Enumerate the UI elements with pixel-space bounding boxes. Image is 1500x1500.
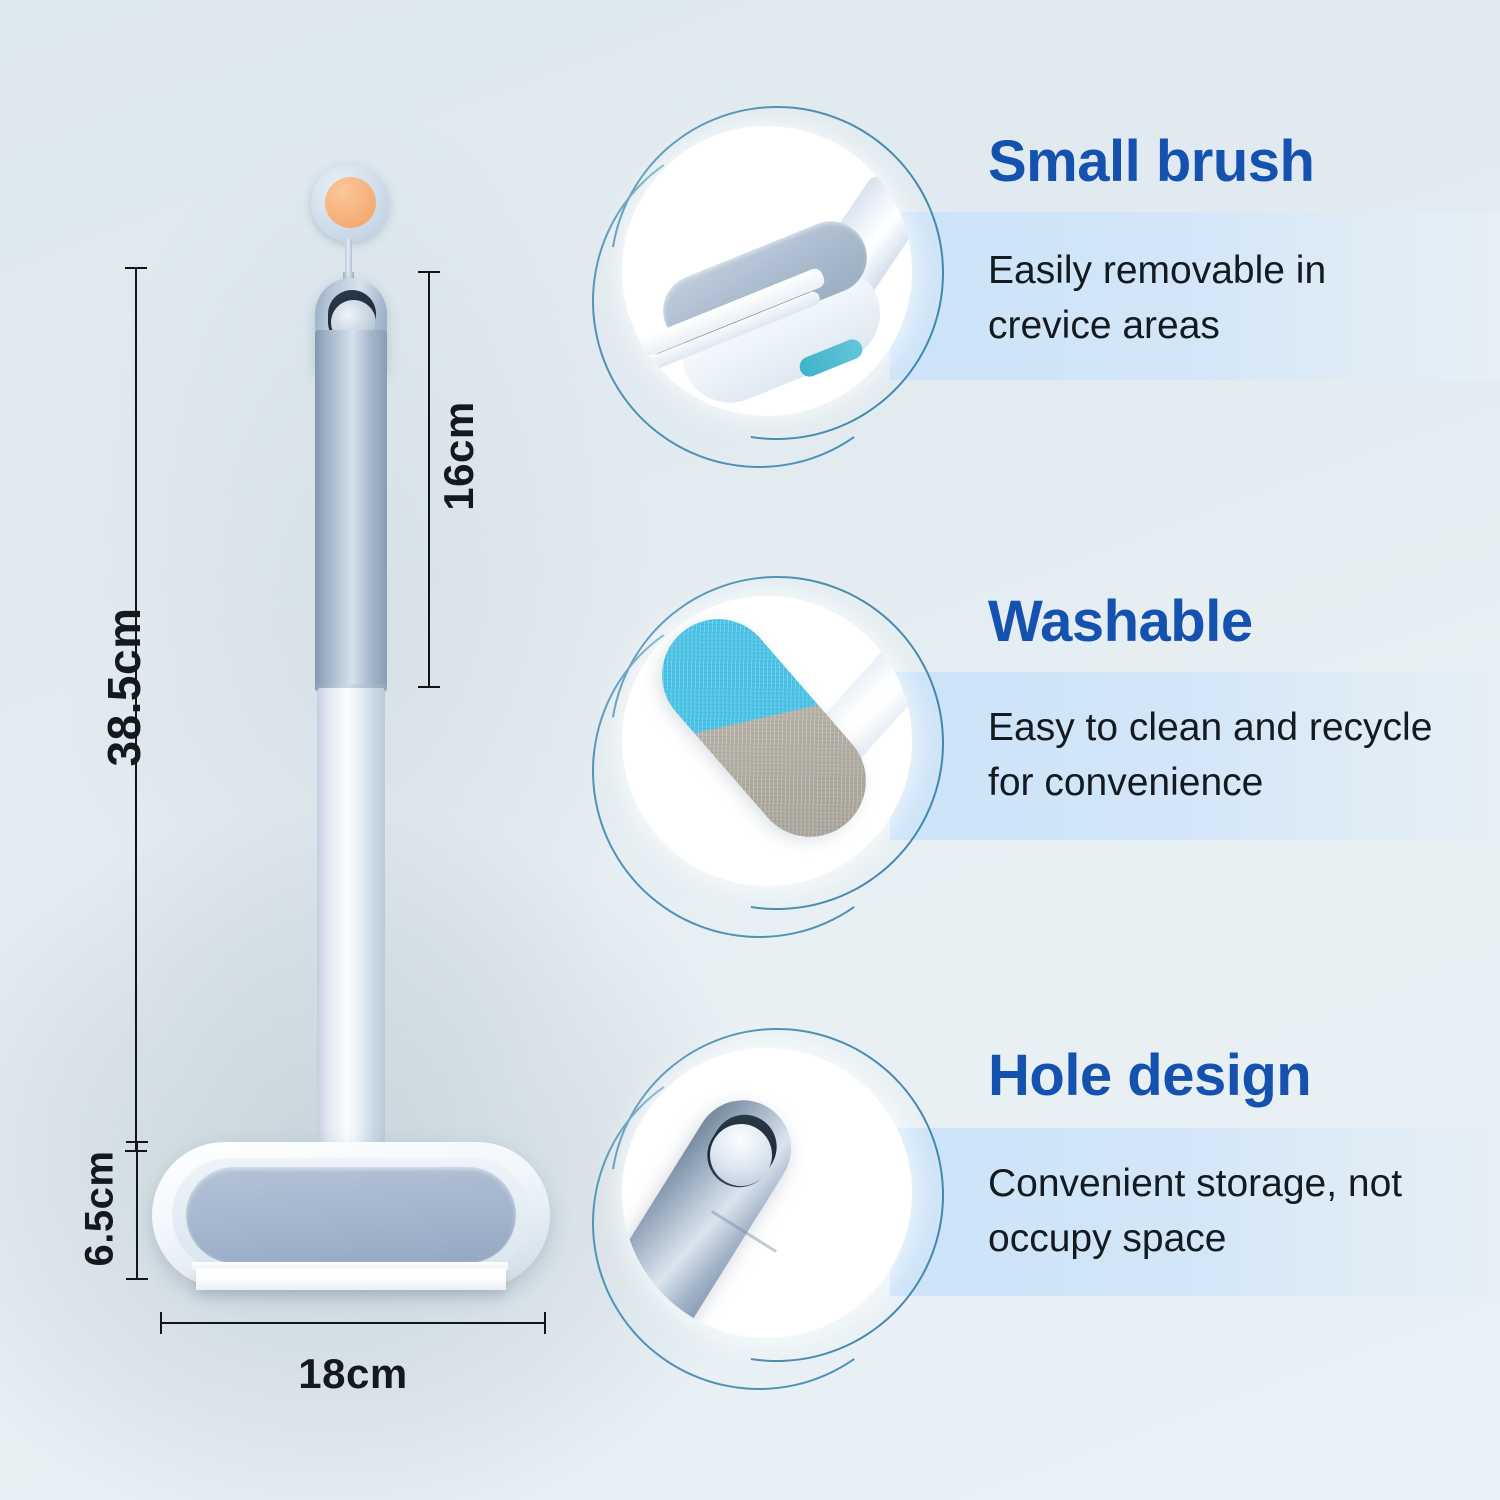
handle-end-shape <box>622 1082 809 1338</box>
feature-photo-wrap <box>600 1018 960 1408</box>
handle-hanging-hole-photo <box>622 1048 912 1338</box>
feature-block-hole-design: Hole design Convenient storage, not occu… <box>0 0 1500 1500</box>
feature-description: Convenient storage, not occupy space <box>988 1156 1458 1267</box>
feature-title: Hole design <box>988 1042 1311 1109</box>
infographic-canvas: 38.5cm 16cm 6.5cm 18cm <box>0 0 1500 1500</box>
